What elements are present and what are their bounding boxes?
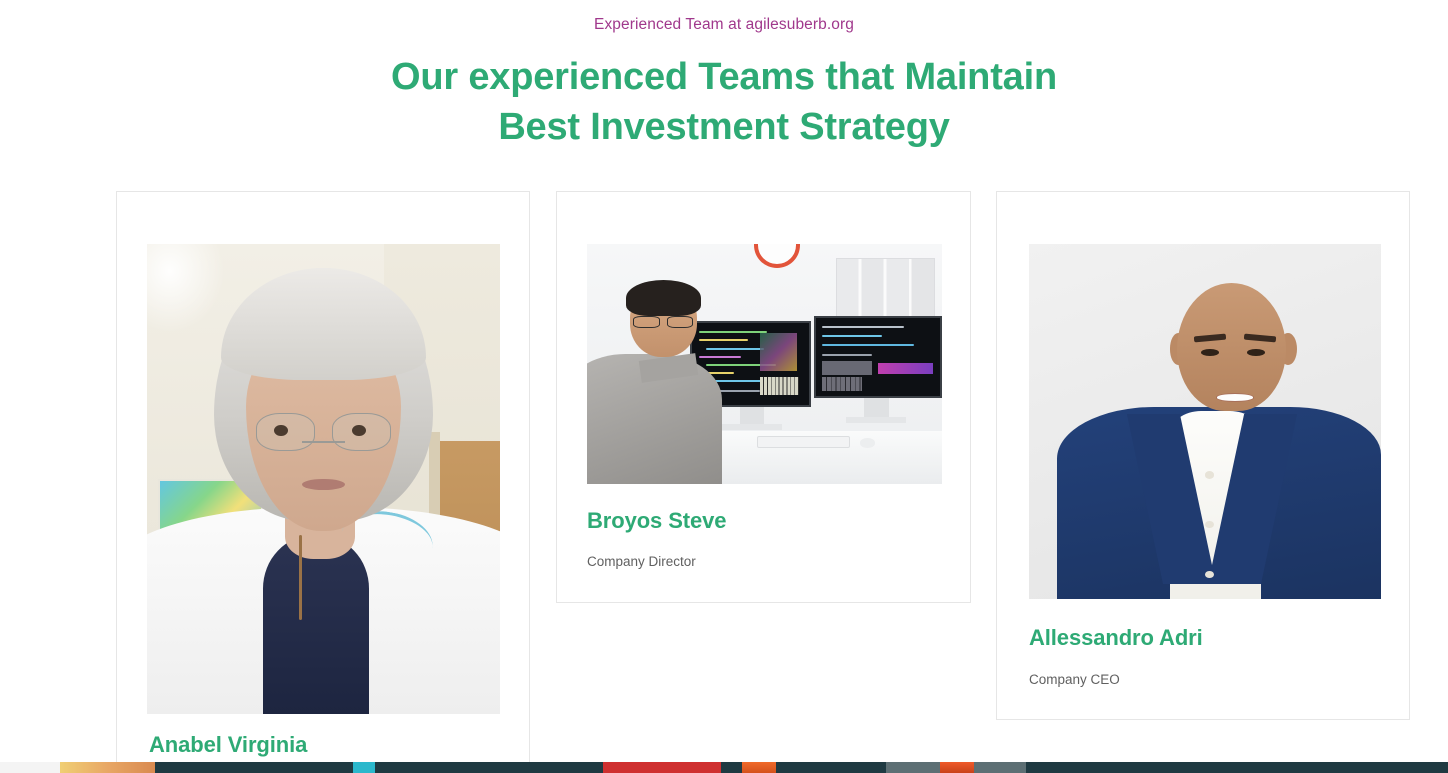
team-member-name: Broyos Steve [587, 508, 726, 534]
photo-man-navy-blazer [1029, 244, 1381, 599]
team-card-anabel-virginia[interactable]: Anabel Virginia [116, 191, 530, 773]
team-member-role: Company Director [587, 554, 696, 569]
wall-clock-icon [754, 244, 800, 268]
team-member-photo [147, 244, 500, 714]
binder-shelf [836, 258, 935, 320]
taskbar-wallpaper-peek [60, 762, 155, 773]
mouse [860, 438, 874, 448]
taskbar-icon-orange-1[interactable] [742, 762, 776, 773]
team-member-photo [587, 244, 942, 484]
team-card-grid: Anabel Virginia [0, 0, 1448, 773]
photo-office-developer [587, 244, 942, 484]
desktop-taskbar[interactable] [0, 762, 1448, 773]
team-member-role: Company CEO [1029, 672, 1120, 687]
team-member-photo [1029, 244, 1381, 599]
team-section-page: Experienced Team at agilesuberb.org Our … [0, 0, 1448, 773]
taskbar-icon-cyan[interactable] [353, 762, 375, 773]
team-card-broyos-steve[interactable]: Broyos Steve Company Director [556, 191, 971, 603]
team-member-name: Anabel Virginia [149, 732, 307, 758]
monitor-right [814, 316, 942, 398]
photo-woman-lab-coat [147, 244, 500, 714]
keyboard [757, 436, 849, 448]
team-member-name: Allessandro Adri [1029, 625, 1203, 651]
taskbar-left-edge [0, 762, 60, 773]
taskbar-icon-orange-2[interactable] [940, 762, 974, 773]
eyeglasses-icon [633, 316, 693, 328]
team-card-allessandro-adri[interactable]: Allessandro Adri Company CEO [996, 191, 1410, 720]
taskbar-icon-red[interactable] [603, 762, 721, 773]
